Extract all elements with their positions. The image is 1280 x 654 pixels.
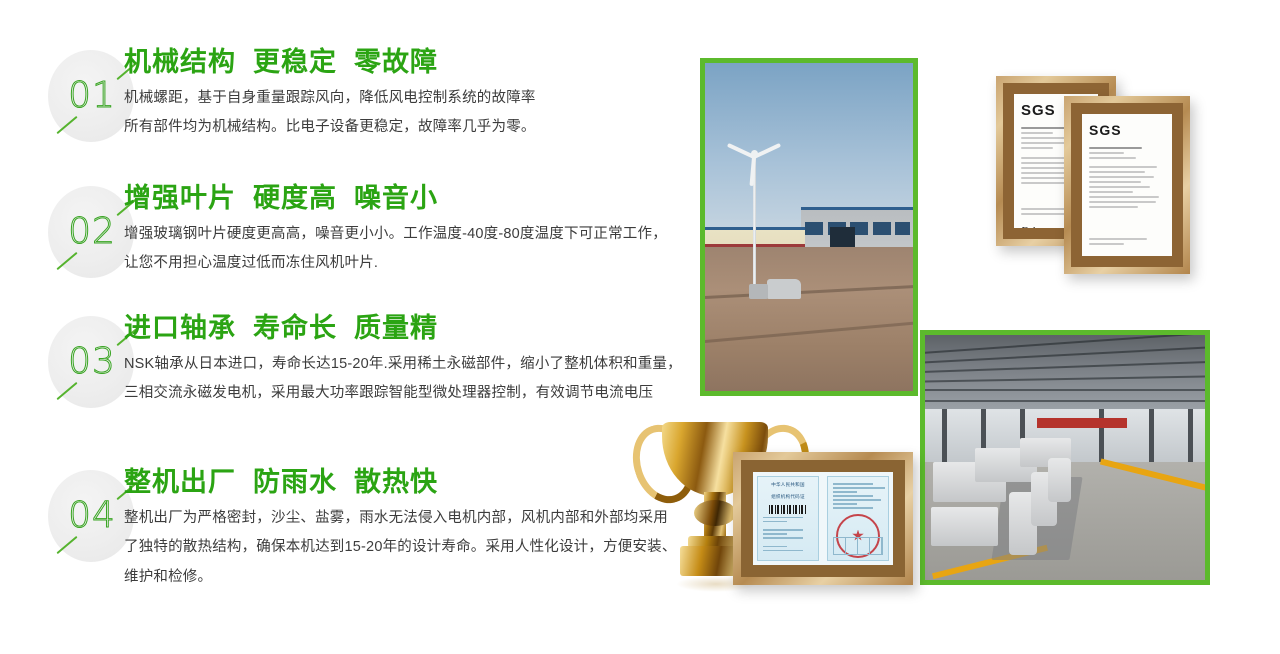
certificate-title-line-2: 组织机构代码证 bbox=[758, 489, 818, 501]
certificate-title-line-1: 中华人民共和国 bbox=[758, 477, 818, 489]
trophy-knob bbox=[694, 500, 736, 526]
warehouse-banner bbox=[1037, 418, 1127, 428]
parked-van bbox=[767, 279, 800, 299]
product-advantages-page: 01 机械结构 更稳定 零故障 机械螺距，基于自身重量跟踪风向，降低风电控制系统… bbox=[0, 0, 1280, 654]
sgs-certificate-paper-2: SGS 王 慧 人 bbox=[1082, 114, 1172, 256]
certificate-right-page bbox=[827, 476, 889, 561]
warehouse-roof-structure bbox=[925, 335, 1205, 409]
sgs-certificate-frame-2: SGS 王 慧 人 bbox=[1064, 96, 1190, 274]
dirt-yard bbox=[705, 247, 913, 391]
image-gallery: SGS E.Ae bbox=[0, 0, 1280, 654]
certificate-left-page: 中华人民共和国 组织机构代码证 bbox=[757, 476, 819, 561]
certificate-barcode bbox=[769, 505, 806, 514]
wind-turbine-hub bbox=[751, 150, 758, 157]
sgs-logo: SGS bbox=[1089, 122, 1165, 138]
org-code-certificate-paper: 中华人民共和国 组织机构代码证 bbox=[753, 472, 893, 565]
certificate-date-grid bbox=[833, 537, 883, 555]
factory-exterior-photo bbox=[700, 58, 918, 396]
generator-housing-row bbox=[1048, 458, 1070, 502]
org-code-certificate-frame: 中华人民共和国 组织机构代码证 bbox=[733, 452, 913, 585]
stacked-products bbox=[931, 507, 998, 546]
warehouse-interior-photo bbox=[920, 330, 1210, 585]
